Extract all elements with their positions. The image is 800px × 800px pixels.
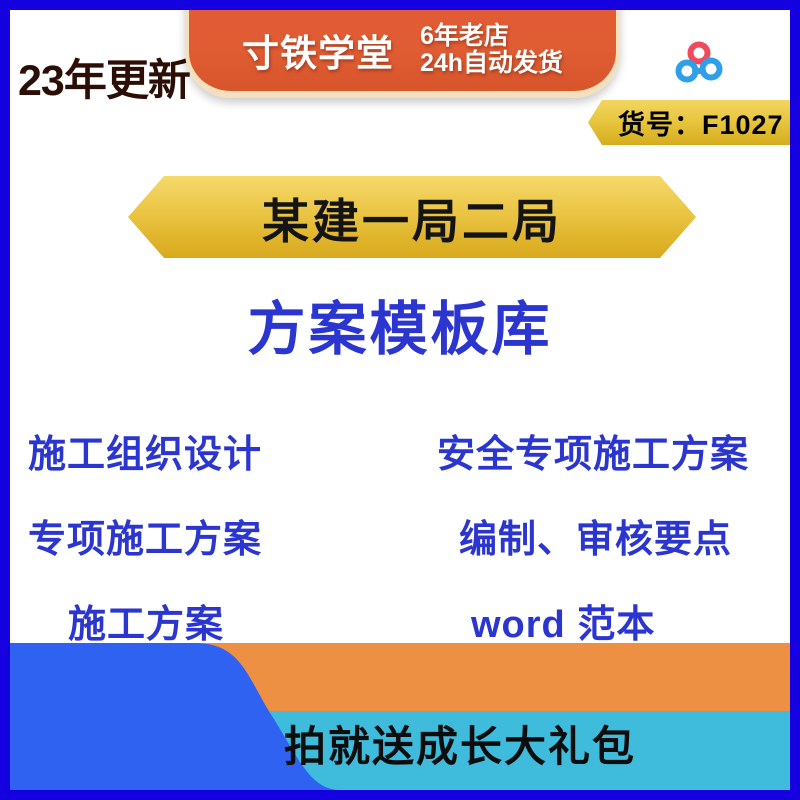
poster-root: 23年更新 寸铁学堂 6年老店 24h自动发货 货号：F1027 某建一局二局 … <box>0 0 800 800</box>
shop-years-label: 6年老店 <box>420 23 563 50</box>
feature-item-right-2: 编制、审核要点 <box>425 508 790 563</box>
title-ribbon: 某建一局二局 <box>128 176 696 258</box>
footer-banner: 拍就送成长大礼包 <box>10 643 790 790</box>
shop-banner-subtext: 6年老店 24h自动发货 <box>420 23 563 77</box>
feature-item-right-1: 安全专项施工方案 <box>425 423 790 478</box>
three-ring-cloud-logo-icon <box>672 36 726 90</box>
title-ribbon-text: 某建一局二局 <box>262 183 562 252</box>
update-year-badge: 23年更新 <box>18 46 190 108</box>
feature-row: 施工组织设计 安全专项施工方案 <box>10 408 790 493</box>
feature-list: 施工组织设计 安全专项施工方案 专项施工方案 编制、审核要点 施工方案 word… <box>10 408 790 663</box>
feature-item-left-1: 施工组织设计 <box>10 423 425 478</box>
feature-item-left-3: 施工方案 <box>10 593 425 648</box>
shop-name-label: 寸铁学堂 <box>242 23 394 77</box>
feature-item-left-2: 专项施工方案 <box>10 508 425 563</box>
feature-row: 专项施工方案 编制、审核要点 <box>10 493 790 578</box>
shop-delivery-label: 24h自动发货 <box>420 50 563 77</box>
footer-promo-text: 拍就送成长大礼包 <box>10 643 790 790</box>
sku-badge: 货号：F1027 <box>588 100 790 145</box>
shop-banner: 寸铁学堂 6年老店 24h自动发货 <box>185 10 620 98</box>
page-title: 方案模板库 <box>10 282 790 366</box>
poster-canvas: 23年更新 寸铁学堂 6年老店 24h自动发货 货号：F1027 某建一局二局 … <box>10 10 790 790</box>
feature-item-right-3: word 范本 <box>425 593 790 648</box>
